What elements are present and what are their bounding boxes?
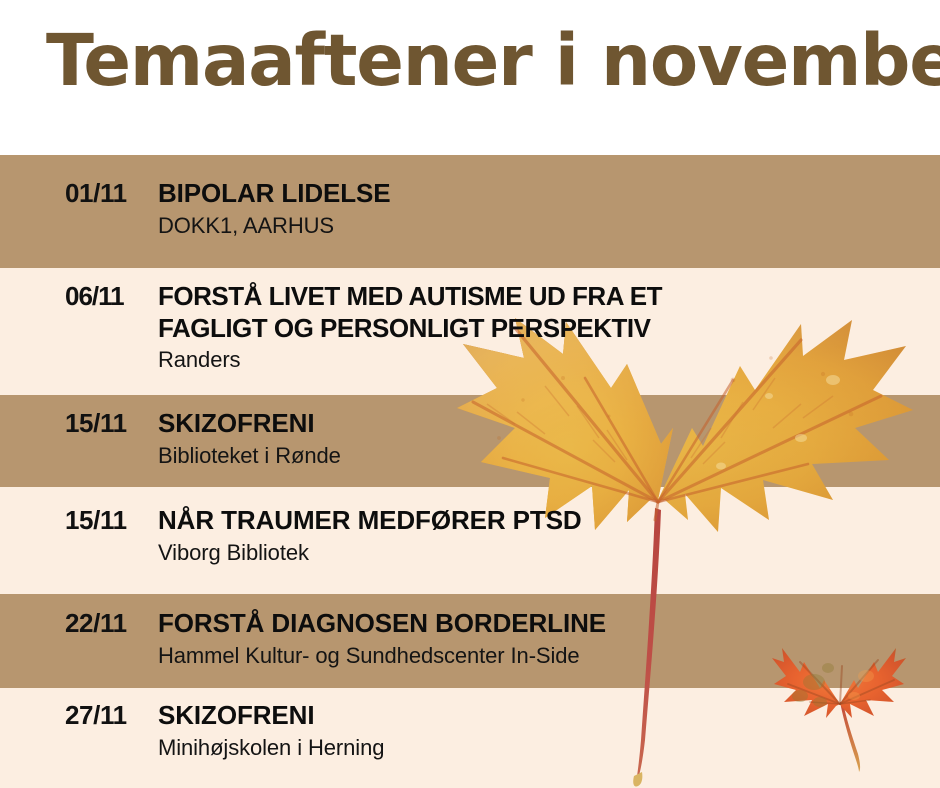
event-title: SKIZOFRENI xyxy=(158,408,930,440)
event-title: NÅR TRAUMER MEDFØRER PTSD xyxy=(158,505,930,537)
event-row[interactable]: 27/11SKIZOFRENIMinihøjskolen i Herning xyxy=(0,700,940,762)
event-date: 15/11 xyxy=(0,408,158,439)
event-venue: Biblioteket i Rønde xyxy=(158,442,930,471)
event-venue: Hammel Kultur- og Sundhedscenter In-Side xyxy=(158,642,930,671)
event-body: SKIZOFRENIMinihøjskolen i Herning xyxy=(158,700,940,762)
event-title: FORSTÅ LIVET MED AUTISME UD FRA ET FAGLI… xyxy=(158,281,930,344)
event-venue: DOKK1, AARHUS xyxy=(158,212,930,241)
event-date: 27/11 xyxy=(0,700,158,731)
event-body: BIPOLAR LIDELSEDOKK1, AARHUS xyxy=(158,178,940,240)
page-title: Temaaftener i november xyxy=(46,24,897,99)
event-row[interactable]: 01/11BIPOLAR LIDELSEDOKK1, AARHUS xyxy=(0,178,940,240)
event-row[interactable]: 15/11SKIZOFRENIBiblioteket i Rønde xyxy=(0,408,940,470)
title-banner: Temaaftener i november xyxy=(0,0,940,155)
poster-canvas: Temaaftener i november 01/11BIPOLAR LIDE… xyxy=(0,0,940,788)
event-date: 15/11 xyxy=(0,505,158,536)
event-venue: Minihøjskolen i Herning xyxy=(158,734,930,763)
event-date: 01/11 xyxy=(0,178,158,209)
event-date: 06/11 xyxy=(0,281,158,312)
event-body: SKIZOFRENIBiblioteket i Rønde xyxy=(158,408,940,470)
event-body: FORSTÅ DIAGNOSEN BORDERLINEHammel Kultur… xyxy=(158,608,940,670)
event-row[interactable]: 22/11FORSTÅ DIAGNOSEN BORDERLINEHammel K… xyxy=(0,608,940,670)
event-row[interactable]: 15/11NÅR TRAUMER MEDFØRER PTSDViborg Bib… xyxy=(0,505,940,567)
event-date: 22/11 xyxy=(0,608,158,639)
event-row[interactable]: 06/11FORSTÅ LIVET MED AUTISME UD FRA ET … xyxy=(0,281,940,375)
event-body: FORSTÅ LIVET MED AUTISME UD FRA ET FAGLI… xyxy=(158,281,940,375)
event-body: NÅR TRAUMER MEDFØRER PTSDViborg Bibliote… xyxy=(158,505,940,567)
event-title: SKIZOFRENI xyxy=(158,700,930,732)
event-venue: Randers xyxy=(158,346,930,375)
event-title: FORSTÅ DIAGNOSEN BORDERLINE xyxy=(158,608,930,640)
event-title: BIPOLAR LIDELSE xyxy=(158,178,930,210)
event-venue: Viborg Bibliotek xyxy=(158,539,930,568)
